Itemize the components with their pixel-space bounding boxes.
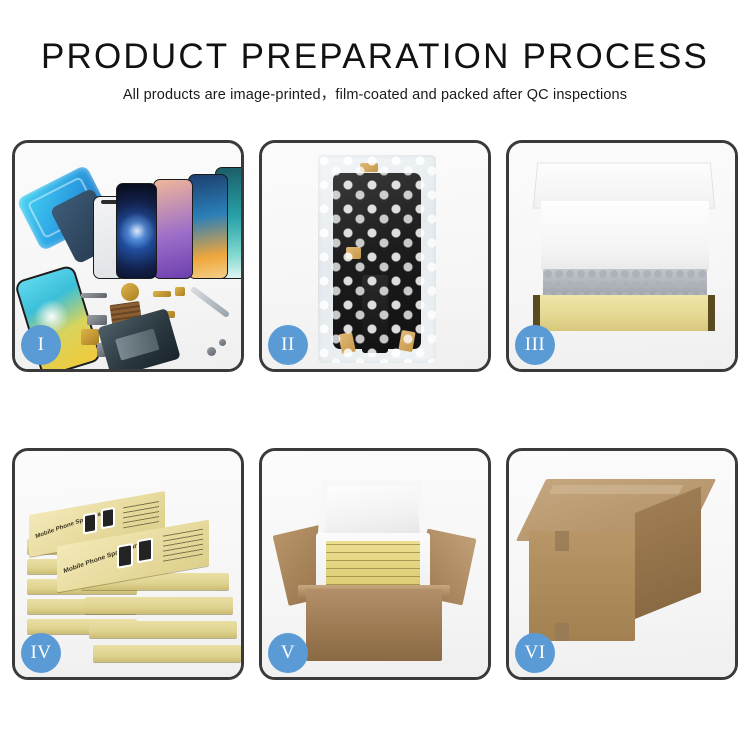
part-flex-cable-icon bbox=[81, 329, 99, 345]
step-panel-1: I bbox=[12, 140, 244, 372]
box-thumb-back-2 bbox=[101, 507, 115, 529]
process-steps-grid: I II bbox=[12, 140, 738, 680]
stacked-box-r4 bbox=[93, 645, 241, 662]
page-subtitle: All products are image-printed，film-coat… bbox=[0, 85, 750, 105]
product-preparation-infographic: PRODUCT PREPARATION PROCESS All products… bbox=[0, 0, 750, 750]
kraft-box-front-icon bbox=[533, 295, 715, 331]
part-speaker-icon bbox=[81, 293, 107, 298]
box-feature-list-front bbox=[163, 528, 203, 562]
carton-tape-top-icon bbox=[549, 485, 683, 494]
step-panel-3: III bbox=[506, 140, 738, 372]
stacked-box-r2 bbox=[85, 597, 233, 614]
box-thumb-front-2 bbox=[137, 537, 153, 563]
box-corner-right-icon bbox=[708, 295, 715, 331]
page-title: PRODUCT PREPARATION PROCESS bbox=[0, 36, 750, 78]
part-bracket-icon bbox=[87, 315, 107, 325]
step-panel-2: II bbox=[259, 140, 491, 372]
foam-cooler-lid-icon bbox=[317, 481, 426, 540]
step-badge-3: III bbox=[515, 325, 555, 365]
bubble-wrap-bag bbox=[318, 155, 436, 363]
part-screw-icon bbox=[207, 347, 216, 356]
step-badge-4: IV bbox=[21, 633, 61, 673]
bubble-texture bbox=[318, 155, 436, 363]
carton-body-icon bbox=[306, 589, 442, 661]
part-chip-icon bbox=[175, 287, 185, 296]
step-panel-5: V bbox=[259, 448, 491, 680]
carton-tape-front-upper-icon bbox=[555, 531, 569, 551]
packed-yellow-boxes-icon bbox=[326, 541, 420, 585]
stacked-box-r3 bbox=[89, 621, 237, 638]
step-badge-2: II bbox=[268, 325, 308, 365]
part-gold-ring-icon bbox=[121, 283, 139, 301]
part-connector-icon bbox=[153, 291, 171, 297]
box-label-back: Mobile Phone Spare Parts bbox=[35, 509, 109, 540]
part-screw-small-icon bbox=[219, 339, 226, 346]
step-panel-4: Mobile Phone Spare Parts Mobile Phone Sp… bbox=[12, 448, 244, 680]
step-panel-6: VI bbox=[506, 448, 738, 680]
phone-blue-display-icon bbox=[116, 183, 157, 279]
carton-tape-front-lower-icon bbox=[555, 623, 569, 641]
phone-lineup bbox=[93, 169, 243, 279]
step-badge-6: VI bbox=[515, 633, 555, 673]
box-feature-list-back bbox=[123, 498, 159, 528]
phone-orange-display-icon bbox=[188, 174, 228, 279]
header: PRODUCT PREPARATION PROCESS All products… bbox=[0, 36, 750, 105]
step-badge-1: I bbox=[21, 325, 61, 365]
phone-purple-display-icon bbox=[153, 179, 193, 279]
step-badge-5: V bbox=[268, 633, 308, 673]
box-thumb-front-1 bbox=[117, 543, 133, 569]
carton-front-face-icon bbox=[529, 531, 635, 641]
box-thumb-back-1 bbox=[83, 512, 97, 534]
white-foam-sheet-icon bbox=[541, 201, 709, 271]
